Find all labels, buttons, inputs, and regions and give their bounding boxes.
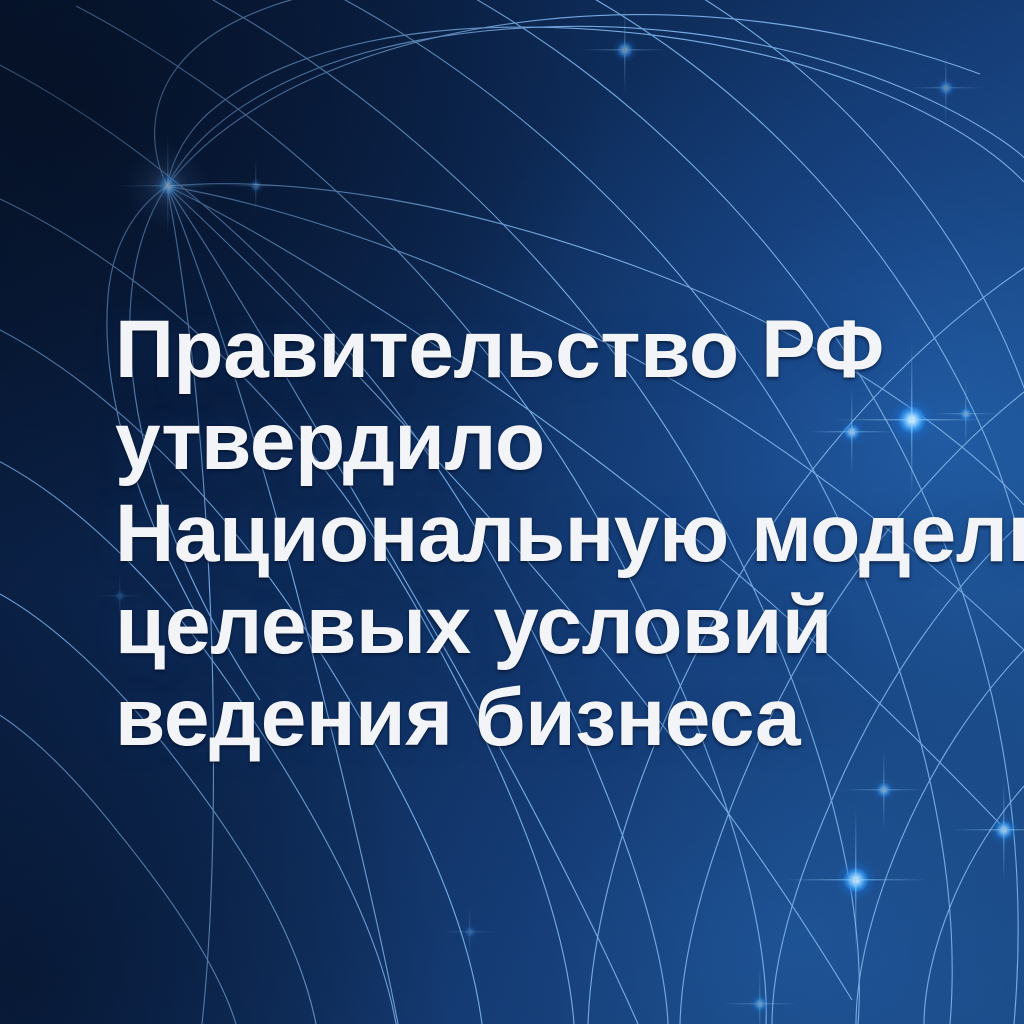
headline-line-5: ведения бизнеса: [115, 672, 995, 764]
headline-line-2: утвердило: [115, 396, 995, 488]
headline-line-1: Правительство РФ: [115, 304, 995, 396]
headline-line-3: Национальную модель: [115, 488, 995, 580]
news-card: Правительство РФ утвердило Национальную …: [0, 0, 1024, 1024]
headline-line-4: целевых условий: [115, 580, 995, 672]
headline: Правительство РФ утвердило Национальную …: [115, 304, 995, 764]
